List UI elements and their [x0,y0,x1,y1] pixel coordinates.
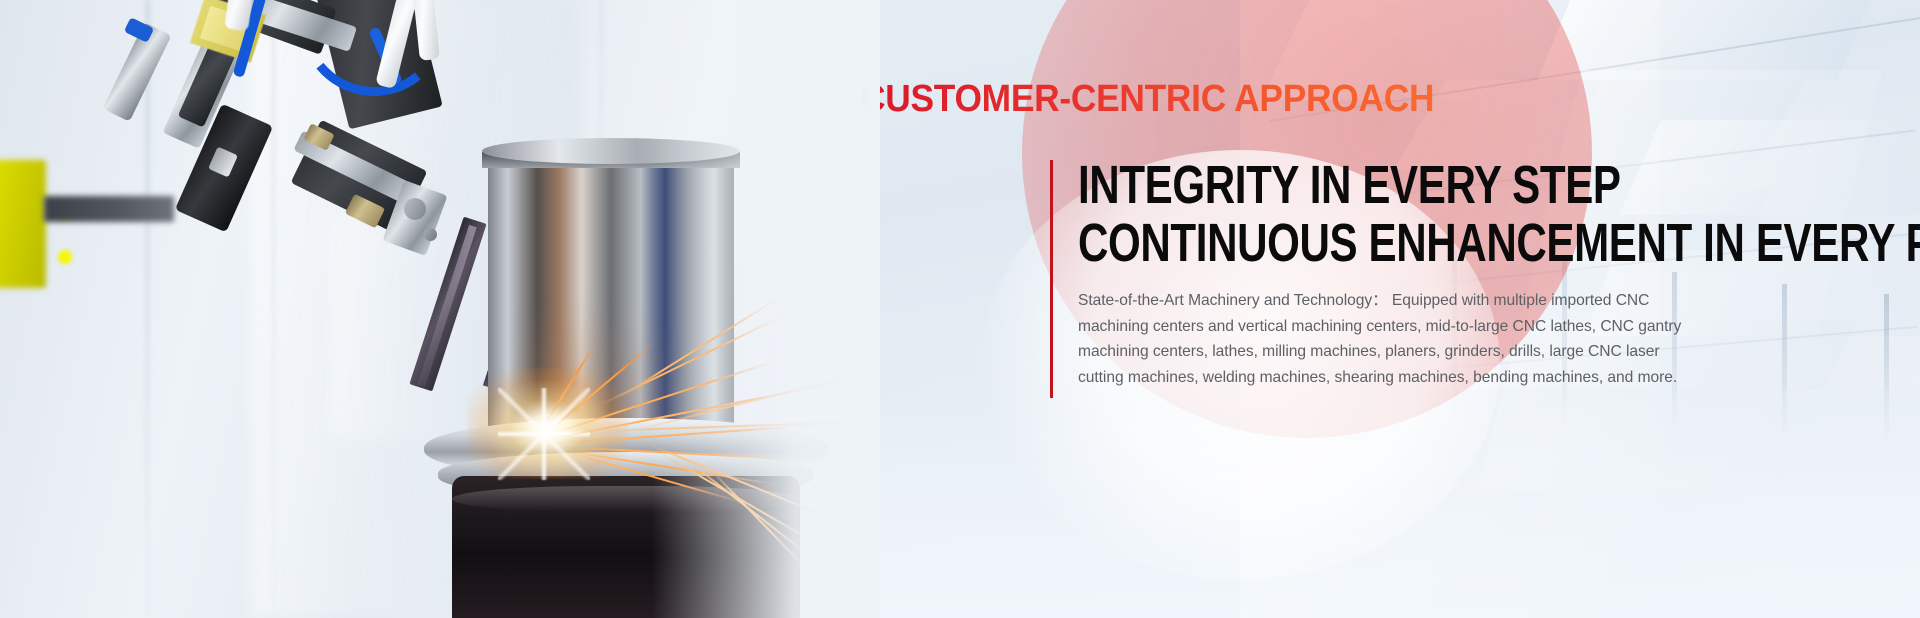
safety-sensor [0,160,46,288]
paragraph-line: machining centers and vertical machining… [1078,314,1678,340]
headline: INTEGRITY IN EVERY STEP CONTINUOUS ENHAN… [1078,156,1920,272]
accent-rule [1050,160,1053,398]
paragraph-line: State-of-the-Art Machinery and Technolog… [1078,288,1678,314]
paragraph-line: machining centers, lathes, milling machi… [1078,339,1678,365]
paragraph-line: cutting machines, welding machines, shea… [1078,365,1678,391]
laser-welding-photo [0,0,880,618]
hero-banner: CUSTOMER-CENTRIC APPROACH INTEGRITY IN E… [0,0,1920,618]
description-paragraph: State-of-the-Art Machinery and Technolog… [1078,288,1678,390]
eyebrow-heading: CUSTOMER-CENTRIC APPROACH [860,78,1434,121]
headline-line-2: CONTINUOUS ENHANCEMENT IN EVERY PROCESS [1078,214,1920,272]
headline-line-1: INTEGRITY IN EVERY STEP [1078,156,1920,214]
